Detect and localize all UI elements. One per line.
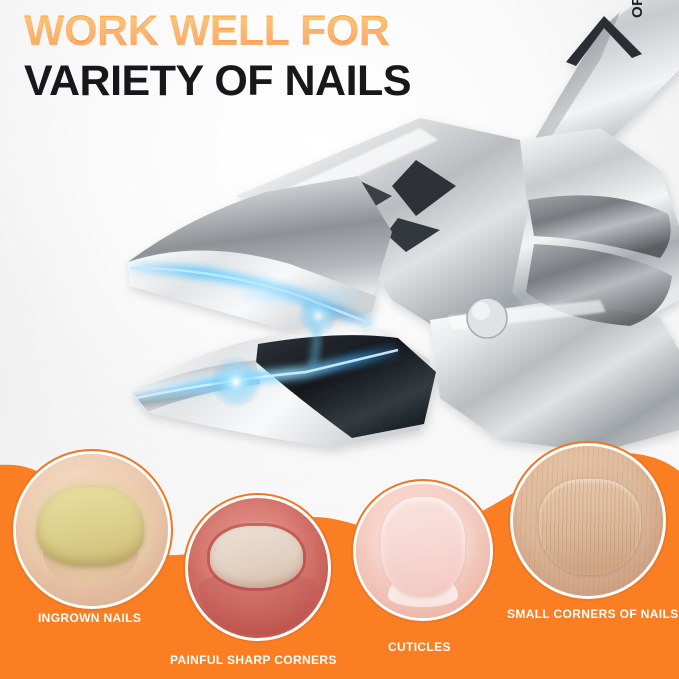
blade-sparkle-1 (210, 356, 262, 408)
headline-block: WORK WELL FOR VARIETY OF NAILS (24, 6, 411, 106)
off-marking-label: OFF (629, 0, 646, 18)
blade-flare (240, 289, 360, 303)
nail-image-painful-corners (188, 498, 328, 638)
nail-image-small-corners (513, 446, 663, 596)
caption-painful-sharp-corners: PAINFUL SHARP CORNERS (170, 653, 337, 667)
nail-photo-painful-corners[interactable] (188, 498, 328, 638)
nail-image-cuticles (356, 484, 490, 618)
pivot-rivet-highlight (472, 302, 490, 320)
nail-photo-small-corners[interactable] (513, 446, 663, 596)
nail-photo-cuticles[interactable] (356, 484, 490, 618)
nail-image-ingrown (16, 454, 168, 606)
caption-small-corners: SMALL CORNERS OF NAILS (507, 607, 678, 621)
product-banner: WORK WELL FOR VARIETY OF NAILS (0, 0, 679, 679)
caption-cuticles: CUTICLES (388, 640, 451, 654)
nail-photo-ingrown[interactable] (16, 454, 168, 606)
headline-line-1: WORK WELL FOR (24, 6, 411, 56)
caption-ingrown-nails: INGROWN NAILS (38, 611, 141, 625)
headline-line-2: VARIETY OF NAILS (24, 56, 411, 106)
